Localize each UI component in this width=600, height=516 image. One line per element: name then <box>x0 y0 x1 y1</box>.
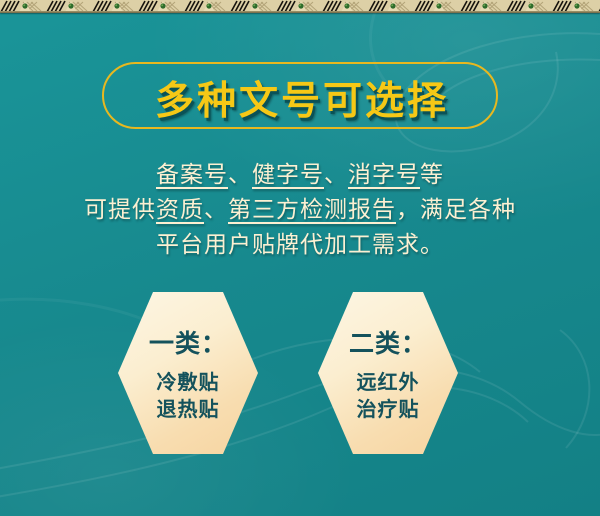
category-heading: 二类： <box>349 324 427 360</box>
description-text: 平台用户贴牌代加工需求。 <box>156 232 444 258</box>
category-hexagon-group: 一类： 冷敷贴 退热贴 二类： 远红外 治疗贴 <box>0 292 600 456</box>
category-item: 远红外 <box>357 369 420 396</box>
category-item: 退热贴 <box>157 396 220 423</box>
top-ornamental-border <box>0 0 600 13</box>
description-keyword: 消字号 <box>348 162 420 188</box>
category-hexagon-1-content: 一类： 冷敷贴 退热贴 <box>118 292 258 454</box>
category-hexagon-2[interactable]: 二类： 远红外 治疗贴 <box>318 292 458 454</box>
title-frame: 多种文号可选择 <box>102 62 498 129</box>
category-heading: 一类： <box>149 324 227 360</box>
description-text: 、 <box>324 162 348 188</box>
description-line: 备案号、健字号、消字号等 <box>0 158 600 193</box>
category-item: 冷敷贴 <box>157 369 220 396</box>
page-title: 多种文号可选择 <box>104 64 500 131</box>
description-text: ，满足各种 <box>396 197 516 223</box>
description-keyword: 备案号 <box>156 162 228 188</box>
description-text: 、 <box>204 197 228 223</box>
description-text: 、 <box>228 162 252 188</box>
description-text: 可提供 <box>84 197 156 223</box>
description-paragraph: 备案号、健字号、消字号等 可提供资质、第三方检测报告，满足各种 平台用户贴牌代加… <box>0 158 600 263</box>
description-keyword: 第三方检测报告 <box>228 197 396 223</box>
description-line: 平台用户贴牌代加工需求。 <box>0 228 600 263</box>
category-hexagon-2-content: 二类： 远红外 治疗贴 <box>318 292 458 454</box>
category-item: 治疗贴 <box>357 396 420 423</box>
description-keyword: 健字号 <box>252 162 324 188</box>
poster-canvas: 多种文号可选择 备案号、健字号、消字号等 可提供资质、第三方检测报告，满足各种 … <box>0 0 600 516</box>
description-keyword: 资质 <box>156 197 204 223</box>
description-line: 可提供资质、第三方检测报告，满足各种 <box>0 193 600 228</box>
category-hexagon-1[interactable]: 一类： 冷敷贴 退热贴 <box>118 292 258 454</box>
top-border-base-line <box>0 11 600 13</box>
description-text: 等 <box>420 162 444 188</box>
